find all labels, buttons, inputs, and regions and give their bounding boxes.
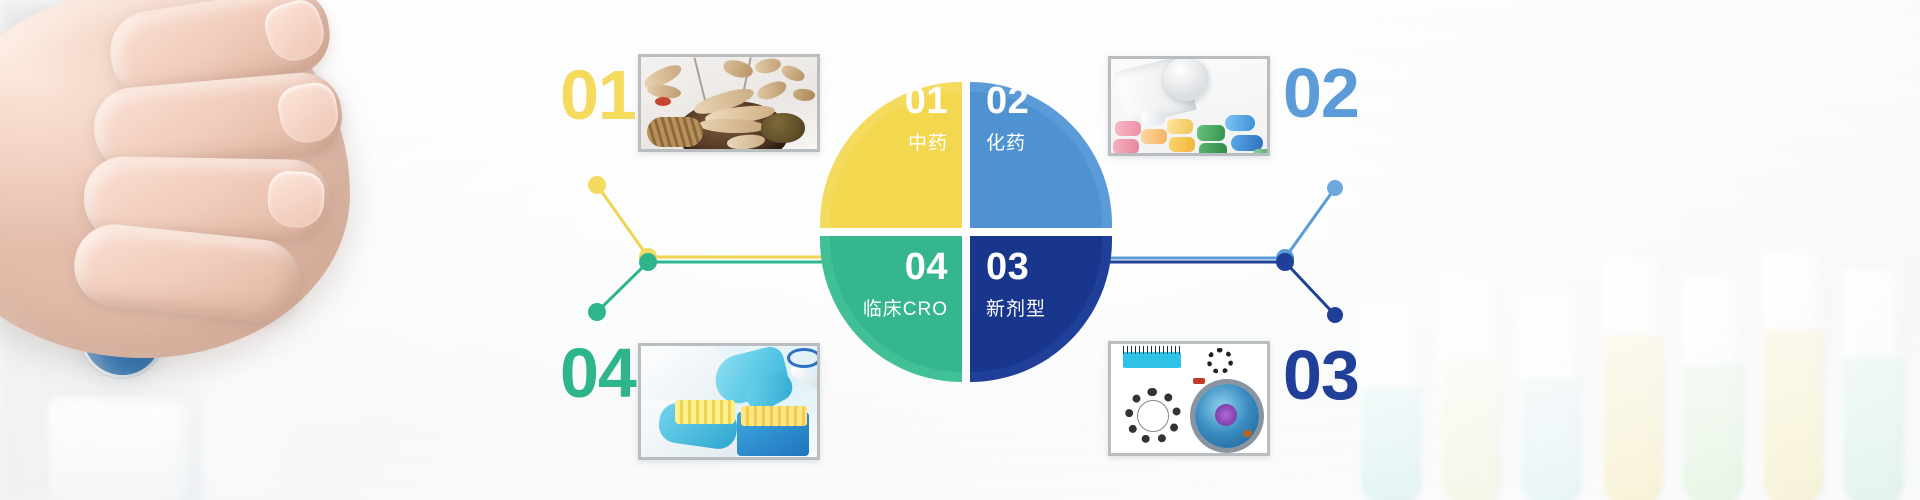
callout-number-04: 04 (560, 338, 636, 408)
wheel-segment-04-label: 临床CRO (863, 294, 948, 321)
photo-traditional-chinese-medicine[interactable] (638, 54, 820, 152)
callout-number-02: 02 (1283, 58, 1359, 128)
callout-number-03: 03 (1283, 340, 1359, 410)
wheel-segment-02[interactable]: 02 化药 (970, 82, 1112, 228)
wheel-segment-04-number: 04 (905, 248, 948, 286)
wheel-segment-02-number: 02 (986, 82, 1029, 120)
callout-number-01: 01 (560, 60, 636, 130)
wheel-segment-01-number: 01 (905, 82, 948, 120)
photo-clinical-cro[interactable] (638, 343, 820, 460)
wheel-segment-04[interactable]: 04 临床CRO (820, 236, 962, 382)
wheel-segment-01[interactable]: 01 中药 (820, 82, 962, 228)
wheel-segment-03-label: 新剂型 (986, 294, 1046, 321)
photo-new-dosage-form[interactable] (1108, 341, 1270, 456)
banner-stage: 50 mlSTERILE (0, 0, 1920, 500)
wheel-segment-02-label: 化药 (986, 128, 1026, 155)
segmented-wheel: 01 中药 02 化药 04 临床CRO 03 新剂型 (820, 82, 1112, 382)
photo-01-surface (641, 57, 817, 149)
photo-02-surface (1111, 59, 1267, 153)
photo-04-surface (641, 346, 817, 457)
wheel-segment-03[interactable]: 03 新剂型 (970, 236, 1112, 382)
photo-03-surface (1111, 344, 1267, 453)
photo-chemical-drugs[interactable] (1108, 56, 1270, 156)
wheel-segment-01-label: 中药 (908, 128, 948, 155)
wheel-segment-03-number: 03 (986, 248, 1029, 286)
